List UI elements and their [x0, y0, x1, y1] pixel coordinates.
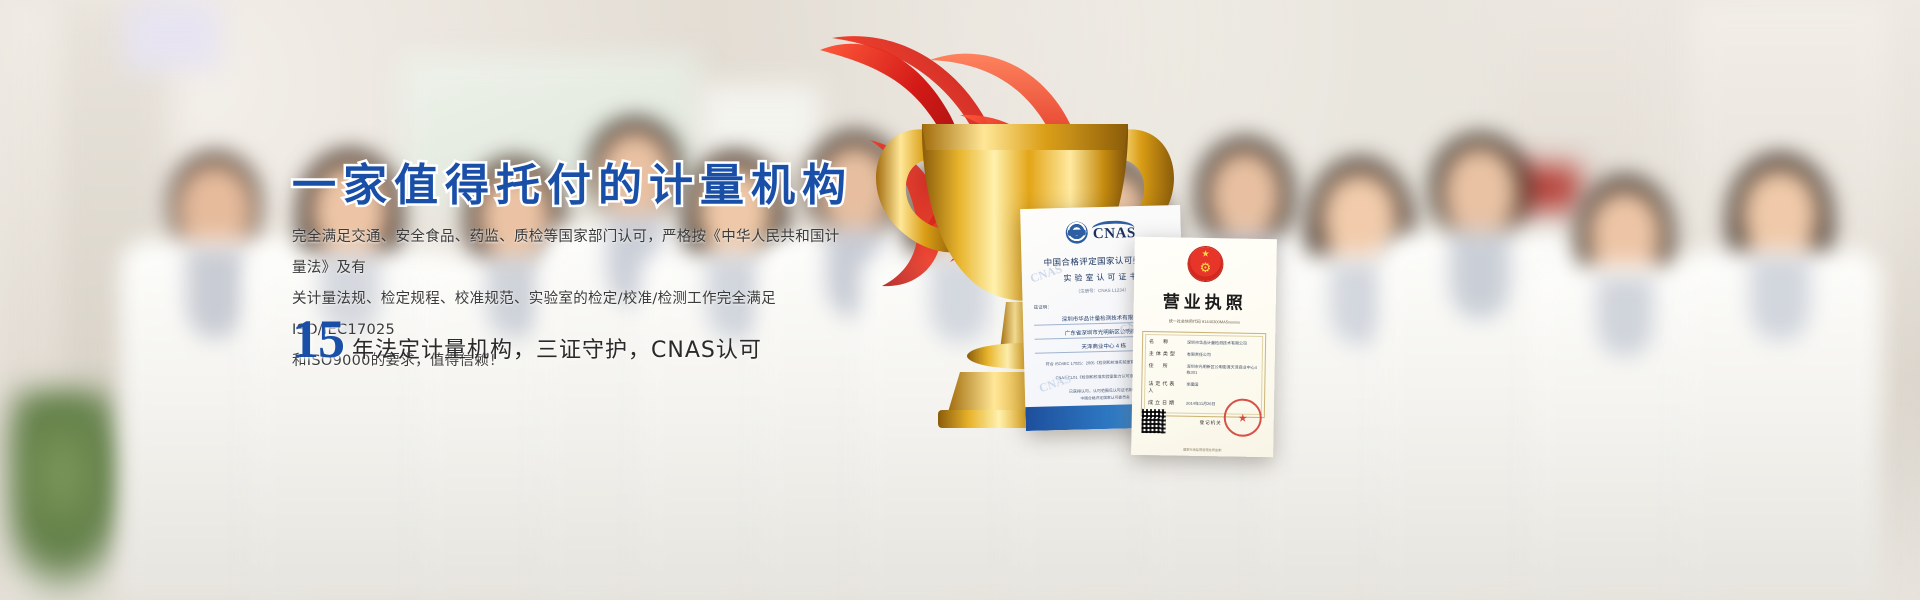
qr-code-icon — [1141, 409, 1165, 433]
license-key: 住 所 — [1149, 362, 1183, 370]
tagline: 15 年法定计量机构，三证守护，CNAS认可 — [292, 312, 762, 366]
license-row: 法定代表人 李建国 — [1148, 380, 1258, 396]
ilac-mra-icon — [1066, 221, 1089, 244]
wall-poster — [125, 0, 220, 70]
cnas-wordmark: CNAS — [1093, 220, 1136, 243]
license-row: 主体类型 有限责任公司 — [1149, 350, 1259, 359]
license-key: 主体类型 — [1149, 350, 1183, 358]
staff-member — [1680, 130, 1880, 600]
license-title: 营业执照 — [1134, 287, 1276, 314]
promo-banner: CNAS CNAS CNAS CNAS 中国合格评定国家认可委员会 实验室认可证… — [0, 0, 1920, 600]
license-key: 成立日期 — [1148, 399, 1182, 407]
license-value: 深圳市光明新区公明街道天泽商业中心4栋301 — [1186, 364, 1258, 377]
description-line-1: 完全满足交通、安全食品、药监、质检等国家部门认可，严格按《中华人民共和国计量法》… — [292, 222, 852, 284]
national-emblem-icon — [1188, 247, 1223, 282]
license-value: 深圳市华品计量检测技术有限公司 — [1187, 340, 1247, 347]
tagline-text: 年法定计量机构，三证守护，CNAS认可 — [352, 332, 762, 364]
license-stamp-label: 登记机关 — [1200, 420, 1222, 426]
tagline-number: 15 — [292, 312, 344, 366]
license-row: 名 称 深圳市华品计量检测技术有限公司 — [1149, 338, 1259, 347]
license-bottom-note: 国家市场监督管理总局监制 — [1131, 446, 1273, 453]
red-seal-icon — [1223, 398, 1262, 437]
license-value: 2014年11月26日 — [1186, 401, 1216, 408]
license-value: 有限责任公司 — [1187, 352, 1211, 358]
page-title: 一家值得托付的计量机构 — [292, 158, 892, 210]
license-key: 法定代表人 — [1148, 380, 1182, 395]
license-value: 李建国 — [1186, 382, 1198, 388]
license-key: 名 称 — [1149, 338, 1183, 346]
business-license: 营业执照 统一社会信用代码 91440300MA5xxxxxx 名 称 深圳市华… — [1131, 237, 1277, 457]
license-row: 住 所 深圳市光明新区公明街道天泽商业中心4栋301 — [1149, 362, 1259, 377]
license-subtitle: 统一社会信用代码 91440300MA5xxxxxx — [1133, 318, 1275, 326]
headline-text: 一家值得托付的计量机构 — [292, 160, 853, 211]
